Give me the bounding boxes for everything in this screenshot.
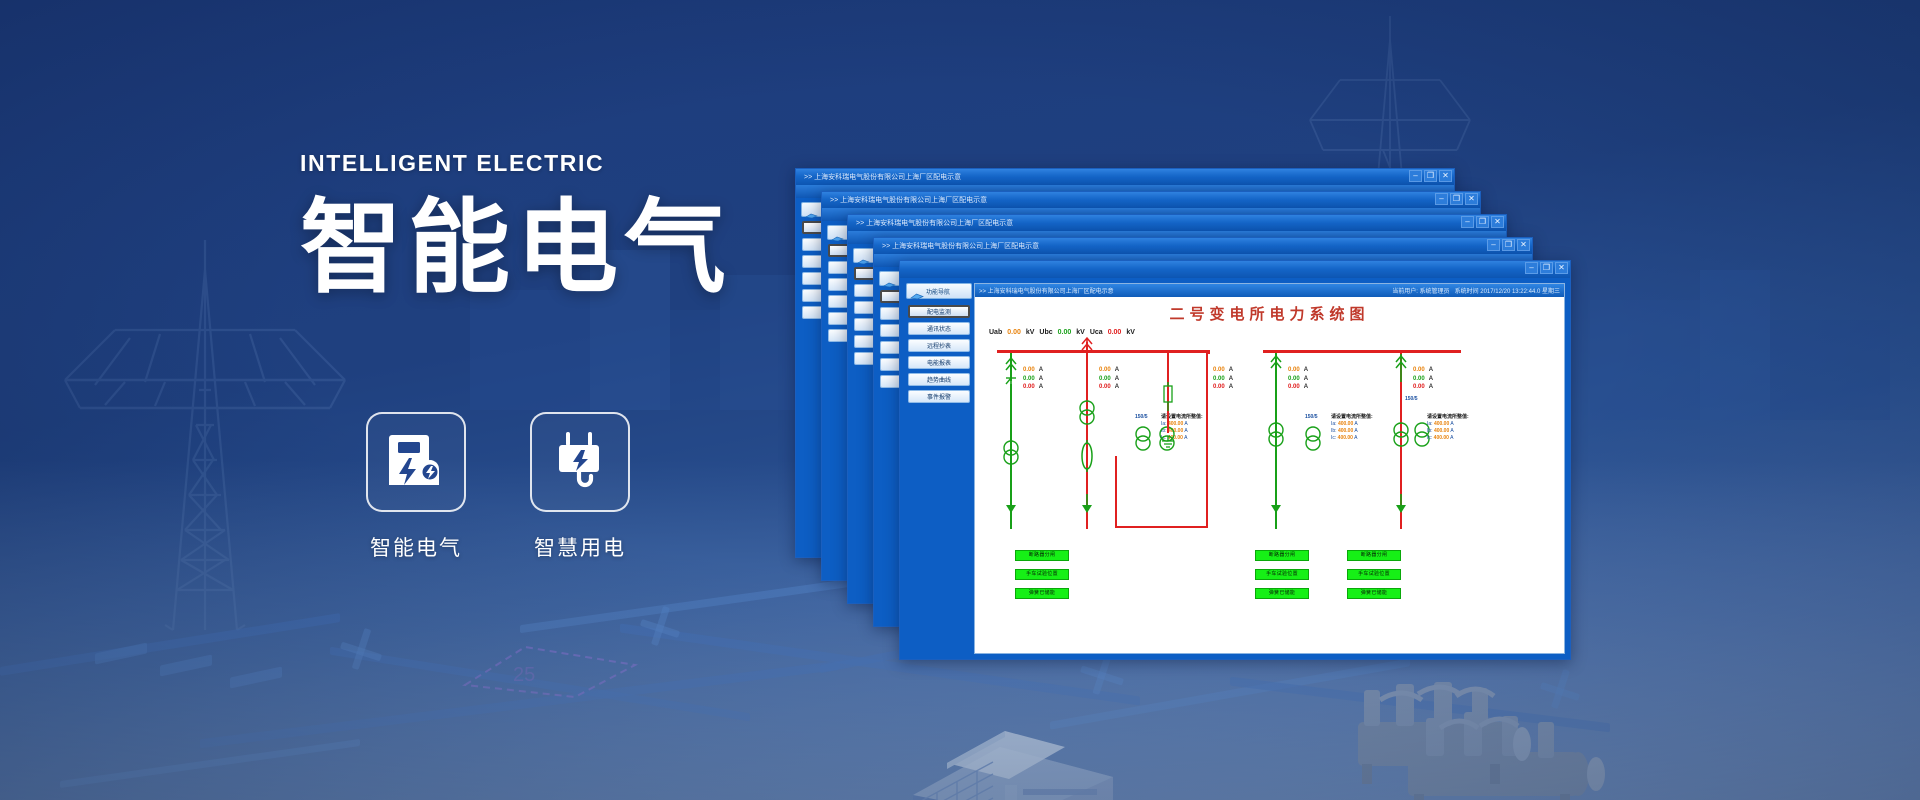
- voltage-value-ubc: 0.00: [1058, 329, 1072, 336]
- feature-list: 智能电气 智慧用电: [366, 412, 630, 562]
- equipment-pad: [230, 666, 282, 688]
- book-icon: [883, 275, 896, 283]
- status-truck-test-position[interactable]: 手车试验位置: [1015, 569, 1069, 580]
- voltage-value-uca: 0.00: [1108, 329, 1122, 336]
- window-titlebar[interactable]: >> 上海安科瑞电气股份有限公司上海厂区配电示意 – ❐ ✕: [822, 192, 1480, 208]
- ground-node: [352, 628, 372, 670]
- maximize-button[interactable]: ❐: [1424, 170, 1437, 182]
- feature-icon-box: [366, 412, 466, 512]
- protection-settings-3: 请设置电流所整值: Ia: 400.00 A Ib: 400.00 A Ic: …: [1427, 414, 1469, 442]
- current-readout-4: 0.00A 0.00A 0.00A: [1288, 366, 1308, 392]
- close-button[interactable]: ✕: [1517, 239, 1530, 251]
- voltage-unit-uca: kV: [1126, 329, 1135, 336]
- window-body: 功能导航 配电监测 通讯状态 远程抄表 电能报表: [900, 278, 1570, 659]
- window-titlebar[interactable]: >> 上海安科瑞电气股份有限公司上海厂区配电示意 – ❐ ✕: [874, 238, 1532, 254]
- current-a: 0.00: [1099, 367, 1111, 373]
- current-c: 0.00: [1413, 384, 1425, 390]
- ground-node: [651, 606, 670, 646]
- status-clock: 13:22:44.0: [1512, 289, 1540, 295]
- protection-value-ib: 400.00: [1338, 428, 1353, 434]
- city-silhouette: [1700, 270, 1770, 420]
- content-toolbar: >> 上海安科瑞电气股份有限公司上海厂区配电示意 当前用户: 系统管理员 系统时…: [975, 284, 1564, 297]
- current-unit: A: [1111, 384, 1119, 390]
- tie-upper: [1206, 350, 1208, 436]
- protection-unit-ic: A: [1354, 435, 1357, 441]
- maximize-button[interactable]: ❐: [1540, 262, 1553, 274]
- protection-label-ib: Ib:: [1427, 428, 1433, 434]
- book-icon: [910, 287, 923, 295]
- current-unit: A: [1225, 367, 1233, 373]
- vt-fuse-icon: [1161, 382, 1175, 417]
- current-readout-5: 0.00A 0.00A 0.00A: [1413, 366, 1433, 392]
- breaker-2-icon: [1079, 440, 1095, 477]
- scada-title: 二号变电所电力系统图: [975, 297, 1564, 324]
- sidebar-item-energy-report[interactable]: 电能报表: [908, 356, 970, 369]
- maximize-button[interactable]: ❐: [1502, 239, 1515, 251]
- book-icon: [857, 252, 870, 260]
- current-b: 0.00: [1213, 376, 1225, 382]
- load-arrow-4-icon: [1269, 494, 1283, 519]
- current-b: 0.00: [1023, 376, 1035, 382]
- sidebar-item-event-alarm[interactable]: 事件报警: [908, 390, 970, 403]
- current-unit: A: [1225, 376, 1233, 382]
- status-user-value: 系统管理员: [1420, 289, 1450, 295]
- disconnector-4-icon: [1268, 354, 1284, 389]
- status-truck-test-position[interactable]: 手车试验位置: [1255, 569, 1309, 580]
- ct-ratio-1: 150/5: [1135, 414, 1148, 420]
- transformer-1-icon: [1001, 440, 1021, 471]
- scada-canvas: 二号变电所电力系统图 Uab 0.00 kV Ubc 0.00 kV Uca 0…: [975, 297, 1564, 653]
- window-controls: – ❐ ✕: [1487, 239, 1530, 251]
- protection-unit-ia: A: [1450, 421, 1453, 427]
- feature-label: 智能电气: [370, 532, 462, 562]
- ground-node: [1540, 682, 1580, 701]
- busbar-left: [997, 350, 1209, 353]
- voltage-name-uca: Uca: [1090, 329, 1103, 336]
- load-arrow-5-icon: [1394, 494, 1408, 519]
- voltage-name-uab: Uab: [989, 329, 1002, 336]
- tie-riser: [1115, 456, 1117, 528]
- current-c: 0.00: [1023, 384, 1035, 390]
- load-arrow-2-icon: [1080, 494, 1094, 519]
- status-time-label: 系统时间: [1455, 289, 1479, 295]
- power-plug-icon: [551, 430, 609, 495]
- sidebar-item-label: 通讯状态: [927, 324, 951, 333]
- protection-unit-ic: A: [1450, 435, 1453, 441]
- protection-value-ia: 400.00: [1338, 421, 1353, 427]
- industrial-machinery: [1340, 660, 1640, 800]
- ct-symbol-1-icon: [1133, 426, 1153, 457]
- window-titlebar[interactable]: >> 上海安科瑞电气股份有限公司上海厂区配电示意 – ❐ ✕: [796, 169, 1454, 185]
- ground-line: [60, 739, 360, 788]
- close-button[interactable]: ✕: [1465, 193, 1478, 205]
- transformer-5-icon: [1391, 422, 1411, 453]
- window-controls: – ❐ ✕: [1525, 262, 1568, 274]
- close-button[interactable]: ✕: [1555, 262, 1568, 274]
- protection-label-ic: Ic:: [1427, 435, 1432, 441]
- current-a: 0.00: [1413, 367, 1425, 373]
- transformer-2-icon: [1077, 400, 1097, 431]
- ground-node: [640, 619, 680, 638]
- window-controls: – ❐ ✕: [1461, 216, 1504, 228]
- current-a: 0.00: [1288, 367, 1300, 373]
- current-unit: A: [1300, 384, 1308, 390]
- current-readout-2: 0.00A 0.00A 0.00A: [1099, 366, 1119, 392]
- status-breaker-open[interactable]: 断路器分闸: [1015, 550, 1069, 561]
- feature-label: 智慧用电: [534, 532, 626, 562]
- status-weekday: 星期三: [1542, 289, 1560, 295]
- current-unit: A: [1035, 376, 1043, 382]
- sidebar-item-comm-status[interactable]: 通讯状态: [908, 322, 970, 335]
- status-breaker-open[interactable]: 断路器分闸: [1255, 550, 1309, 561]
- protection-value-ic: 400.00: [1434, 435, 1449, 441]
- feature-item-smart-power[interactable]: 智慧用电: [530, 412, 630, 562]
- tie-riser-right: [1206, 436, 1208, 528]
- voltage-unit-uab: kV: [1026, 329, 1035, 336]
- voltage-name-ubc: Ubc: [1039, 329, 1052, 336]
- city-silhouette: [660, 310, 720, 410]
- building-3d: [905, 685, 1145, 800]
- minimize-button[interactable]: –: [1435, 193, 1448, 205]
- protection-unit-ib: A: [1354, 428, 1357, 434]
- city-silhouette: [1590, 300, 1700, 420]
- earth-symbol-icon: [1160, 436, 1176, 455]
- current-c: 0.00: [1099, 384, 1111, 390]
- status-strip: 当前用户: 系统管理员 系统时间 2017/12/20 13:22:44.0 星…: [1392, 286, 1560, 295]
- close-button[interactable]: ✕: [1439, 170, 1452, 182]
- protection-value-ic: 400.00: [1338, 435, 1353, 441]
- current-b: 0.00: [1099, 376, 1111, 382]
- protection-heading: 请设置电流所整值:: [1331, 414, 1373, 421]
- current-unit: A: [1300, 376, 1308, 382]
- current-b: 0.00: [1288, 376, 1300, 382]
- book-icon: [831, 229, 844, 237]
- status-spring-charged[interactable]: 弹簧已储能: [1255, 588, 1309, 599]
- maximize-button[interactable]: ❐: [1476, 216, 1489, 228]
- disconnector-5-icon: [1393, 354, 1409, 389]
- protection-label-ib: Ib:: [1331, 428, 1337, 434]
- voltage-readout-row: Uab 0.00 kV Ubc 0.00 kV Uca 0.00 kV: [975, 324, 1564, 336]
- current-unit: A: [1425, 384, 1433, 390]
- nav-header: 功能导航: [906, 283, 972, 299]
- ground-line: [1230, 677, 1610, 733]
- feature-icon-box: [530, 412, 630, 512]
- sidebar-item-remote-meter[interactable]: 远程抄表: [908, 339, 970, 352]
- current-a: 0.00: [1213, 367, 1225, 373]
- protection-label-ia: Ia:: [1427, 421, 1433, 427]
- current-readout-1: 0.00A 0.00A 0.00A: [1023, 366, 1043, 392]
- feature-item-intelligent-electric[interactable]: 智能电气: [366, 412, 466, 562]
- current-unit: A: [1225, 384, 1233, 390]
- sidebar-item-label: 远程抄表: [927, 341, 951, 350]
- sidebar-item-label: 配电监测: [927, 307, 951, 316]
- voltage-value-uab: 0.00: [1007, 329, 1021, 336]
- window-titlebar[interactable]: – ❐ ✕: [900, 261, 1570, 278]
- city-silhouette: [470, 290, 590, 410]
- ct-symbol-3-icon: [1303, 426, 1323, 457]
- zone-outline: 25: [455, 635, 655, 705]
- minimize-button[interactable]: –: [1525, 262, 1538, 274]
- sidebar-item-power-monitor[interactable]: 配电监测: [908, 305, 970, 318]
- content-pane: >> 上海安科瑞电气股份有限公司上海厂区配电示意 当前用户: 系统管理员 系统时…: [974, 283, 1565, 654]
- protection-value-ia: 400.00: [1434, 421, 1449, 427]
- current-b: 0.00: [1413, 376, 1425, 382]
- current-unit: A: [1111, 367, 1119, 373]
- book-icon: [805, 206, 818, 214]
- close-button[interactable]: ✕: [1491, 216, 1504, 228]
- protection-unit-ia: A: [1354, 421, 1357, 427]
- current-unit: A: [1425, 367, 1433, 373]
- single-line-diagram: 0.00A 0.00A 0.00A: [975, 336, 1564, 572]
- window-title-text: >> 上海安科瑞电气股份有限公司上海厂区配电示意: [822, 195, 987, 205]
- ground-line: [200, 661, 840, 749]
- current-c: 0.00: [1213, 384, 1225, 390]
- equipment-pad: [160, 654, 212, 676]
- ground-line: [330, 647, 750, 722]
- equipment-pad: [95, 642, 147, 664]
- protection-unit-ic: A: [1184, 435, 1187, 441]
- voltage-unit-ubc: kV: [1076, 329, 1085, 336]
- protection-unit-ib: A: [1450, 428, 1453, 434]
- window-title-text: >> 上海安科瑞电气股份有限公司上海厂区配电示意: [874, 241, 1039, 251]
- window-title-text: >> 上海安科瑞电气股份有限公司上海厂区配电示意: [796, 172, 961, 182]
- app-window-active[interactable]: – ❐ ✕ 功能导航 配电监测: [899, 260, 1571, 660]
- sidebar-item-label: 事件报警: [927, 392, 951, 401]
- protection-unit-ib: A: [1184, 428, 1187, 434]
- bus-tie: [1208, 350, 1210, 354]
- tie-horizontal: [1115, 526, 1207, 528]
- busbar-right: [1263, 350, 1461, 353]
- protection-settings-2: 请设置电流所整值: Ia: 400.00 A Ib: 400.00 A Ic: …: [1331, 414, 1373, 442]
- minimize-button[interactable]: –: [1409, 170, 1422, 182]
- maximize-button[interactable]: ❐: [1450, 193, 1463, 205]
- sidebar-item-trend-curve[interactable]: 趋势曲线: [908, 373, 970, 386]
- window-title-text: >> 上海安科瑞电气股份有限公司上海厂区配电示意: [848, 218, 1013, 228]
- nav-header-label: 功能导航: [926, 287, 950, 296]
- sidebar-item-label: 电能报表: [927, 358, 951, 367]
- sidebar-item-label: 趋势曲线: [927, 375, 951, 384]
- current-unit: A: [1111, 376, 1119, 382]
- current-readout-3: 0.00A 0.00A 0.00A: [1213, 366, 1233, 392]
- status-spring-charged[interactable]: 弹簧已储能: [1347, 588, 1401, 599]
- ground-line: [1050, 658, 1410, 729]
- ct-ratio-2: 150/5: [1305, 414, 1318, 420]
- status-truck-test-position[interactable]: 手车试验位置: [1347, 569, 1401, 580]
- protection-unit-ia: A: [1184, 421, 1187, 427]
- ground-node: [340, 642, 382, 662]
- ground-node: [1551, 669, 1570, 709]
- city-silhouette: [1770, 320, 1890, 420]
- minimize-button[interactable]: –: [1487, 239, 1500, 251]
- ground-line: [0, 613, 340, 676]
- window-titlebar[interactable]: >> 上海安科瑞电气股份有限公司上海厂区配电示意 – ❐ ✕: [848, 215, 1506, 231]
- window-controls: – ❐ ✕: [1435, 193, 1478, 205]
- current-unit: A: [1300, 367, 1308, 373]
- transformer-4-icon: [1266, 422, 1286, 453]
- status-date: 2017/12/20: [1480, 289, 1510, 295]
- current-a: 0.00: [1023, 367, 1035, 373]
- ground-node: [1080, 665, 1124, 685]
- breadcrumb: >> 上海安科瑞电气股份有限公司上海厂区配电示意: [979, 286, 1114, 295]
- nav-list: 配电监测 通讯状态 远程抄表 电能报表 趋势曲线 事件报警: [908, 305, 970, 407]
- window-controls: – ❐ ✕: [1409, 170, 1452, 182]
- current-unit: A: [1035, 367, 1043, 373]
- protection-label-ia: Ia:: [1331, 421, 1337, 427]
- current-c: 0.00: [1288, 384, 1300, 390]
- status-user-label: 当前用户:: [1392, 289, 1418, 295]
- minimize-button[interactable]: –: [1461, 216, 1474, 228]
- charging-station-icon: [388, 431, 444, 494]
- load-arrow-1-icon: [1004, 494, 1018, 519]
- protection-heading: 请设置电流所整值:: [1427, 414, 1469, 421]
- current-unit: A: [1425, 376, 1433, 382]
- hero-banner: 25: [0, 0, 1920, 800]
- svg-text:25: 25: [513, 664, 535, 686]
- ct-ratio-3: 150/5: [1405, 396, 1418, 402]
- status-spring-charged[interactable]: 弹簧已储能: [1015, 588, 1069, 599]
- protection-value-ib: 400.00: [1434, 428, 1449, 434]
- status-breaker-open[interactable]: 断路器分闸: [1347, 550, 1401, 561]
- protection-label-ic: Ic:: [1331, 435, 1336, 441]
- current-unit: A: [1035, 384, 1043, 390]
